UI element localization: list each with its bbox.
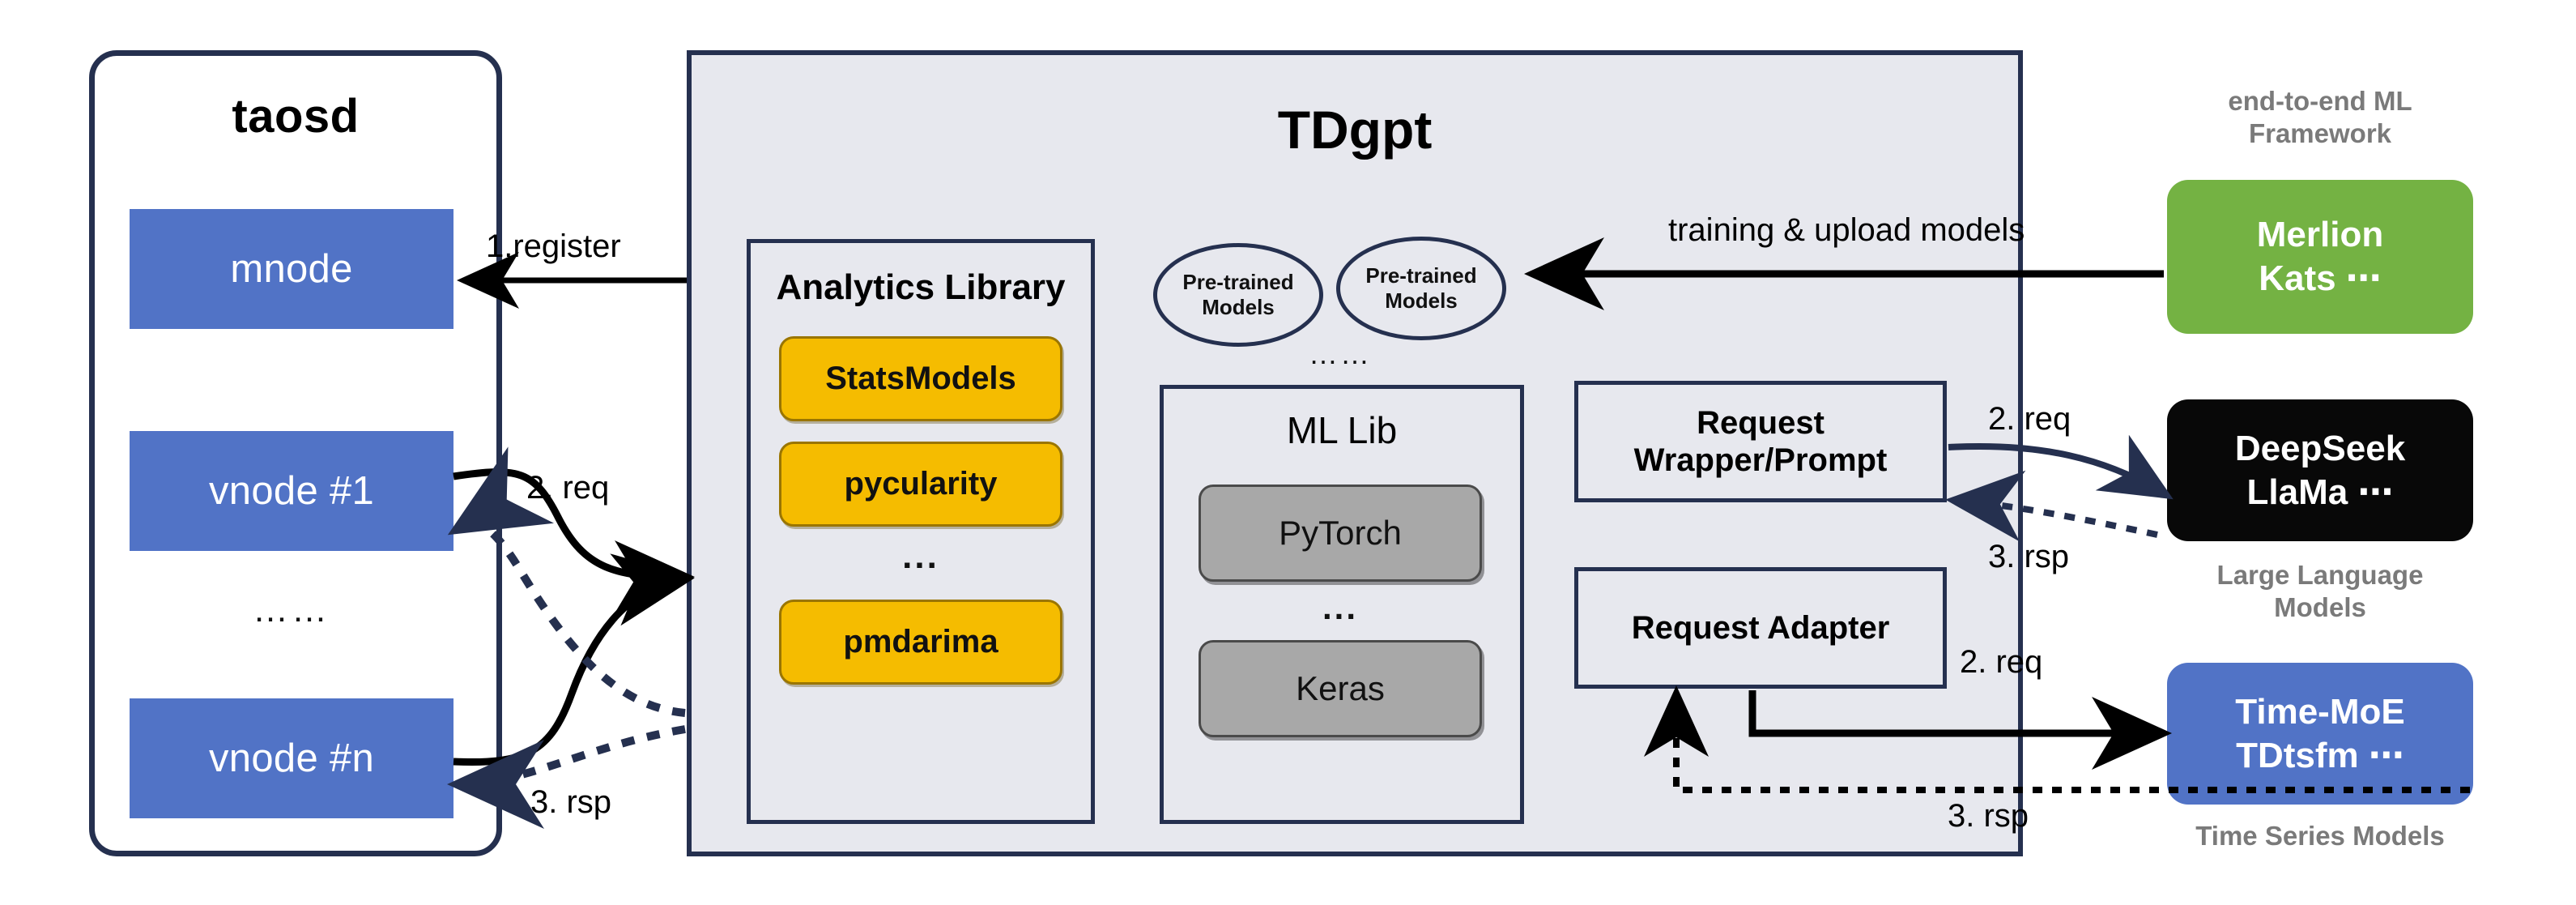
time-series-caption: Time Series Models: [2150, 820, 2490, 852]
ml-lib-item-pytorch[interactable]: PyTorch: [1199, 485, 1482, 582]
pretrained-models-2-line1: Pre-trained: [1365, 263, 1476, 288]
node-vnode-1-label: vnode #1: [209, 468, 374, 514]
pretrained-models-ellipse-2[interactable]: Pre-trained Models: [1336, 237, 1506, 340]
arrow-label-rsp-timeseries: 3. rsp: [1948, 798, 2029, 835]
time-series-models-box[interactable]: Time-MoE TDtsfm ⋯: [2167, 663, 2473, 805]
ml-framework-caption-line1: end-to-end ML: [2150, 85, 2490, 117]
request-adapter-box[interactable]: Request Adapter: [1574, 567, 1947, 689]
tdgpt-title: TDgpt: [687, 93, 2023, 166]
request-wrapper-prompt-box[interactable]: Request Wrapper/Prompt: [1574, 381, 1947, 502]
ml-lib-item-keras-label: Keras: [1296, 669, 1385, 708]
analytics-item-statsmodels[interactable]: StatsModels: [779, 336, 1062, 421]
llm-caption-line2: Models: [2150, 591, 2490, 624]
analytics-library-box: [747, 239, 1095, 824]
ml-lib-title: ML Lib: [1160, 405, 1524, 455]
node-vnode-n[interactable]: vnode #n: [130, 698, 453, 818]
analytics-item-pmdarima-label: pmdarima: [843, 624, 998, 660]
node-mnode-label: mnode: [230, 246, 352, 292]
request-adapter-label: Request Adapter: [1632, 609, 1890, 647]
arrow-label-req-timeseries: 2. req: [1960, 644, 2042, 681]
analytics-item-pycularity[interactable]: pycularity: [779, 442, 1062, 527]
pretrained-models-2-line2: Models: [1385, 288, 1458, 314]
node-vnode-n-label: vnode #n: [209, 736, 374, 781]
pretrained-models-1-line1: Pre-trained: [1182, 270, 1293, 295]
request-wrapper-line1: Request: [1634, 404, 1888, 442]
ml-framework-line1: Merlion: [2257, 213, 2383, 257]
pretrained-models-ellipse-1[interactable]: Pre-trained Models: [1153, 243, 1323, 347]
taosd-ellipsis: ……: [130, 590, 453, 630]
ml-lib-ellipsis: ...: [1199, 587, 1482, 628]
pretrained-models-1-line2: Models: [1202, 295, 1275, 320]
analytics-item-pmdarima[interactable]: pmdarima: [779, 600, 1062, 685]
analytics-item-pycularity-label: pycularity: [845, 466, 998, 502]
llm-line1: DeepSeek: [2235, 427, 2405, 471]
node-vnode-1[interactable]: vnode #1: [130, 431, 453, 551]
arrow-label-req-left: 2. req: [526, 470, 609, 506]
arrow-label-rsp-llm: 3. rsp: [1988, 539, 2069, 575]
time-series-line2: TDtsfm ⋯: [2236, 734, 2404, 778]
ml-lib-item-pytorch-label: PyTorch: [1279, 514, 1402, 553]
analytics-library-title: Analytics Library: [747, 263, 1095, 312]
arrow-label-rsp-left: 3. rsp: [530, 784, 611, 821]
pretrained-models-ellipsis: ……: [1263, 336, 1417, 372]
ml-framework-line2: Kats ⋯: [2259, 257, 2382, 301]
taosd-title: taosd: [89, 88, 502, 144]
ml-framework-caption: end-to-end ML Framework: [2150, 85, 2490, 149]
arrow-label-register: 1.register: [486, 228, 621, 265]
llm-box[interactable]: DeepSeek LlaMa ⋯: [2167, 399, 2473, 541]
node-mnode[interactable]: mnode: [130, 209, 453, 329]
time-series-line1: Time-MoE: [2235, 690, 2404, 734]
ml-lib-item-keras[interactable]: Keras: [1199, 640, 1482, 737]
llm-line2: LlaMa ⋯: [2247, 471, 2394, 514]
ml-framework-caption-line2: Framework: [2150, 117, 2490, 150]
arrow-label-training-upload: training & upload models: [1668, 212, 2025, 249]
time-series-caption-line1: Time Series Models: [2150, 820, 2490, 852]
ml-framework-box[interactable]: Merlion Kats ⋯: [2167, 180, 2473, 334]
arrow-label-req-llm: 2. req: [1988, 401, 2071, 438]
diagram-canvas: taosd mnode vnode #1 …… vnode #n TDgpt A…: [0, 0, 2576, 905]
llm-caption-line1: Large Language: [2150, 559, 2490, 591]
analytics-library-ellipsis: ...: [779, 535, 1062, 578]
request-wrapper-line2: Wrapper/Prompt: [1634, 442, 1888, 479]
llm-caption: Large Language Models: [2150, 559, 2490, 623]
analytics-item-statsmodels-label: StatsModels: [825, 361, 1016, 397]
